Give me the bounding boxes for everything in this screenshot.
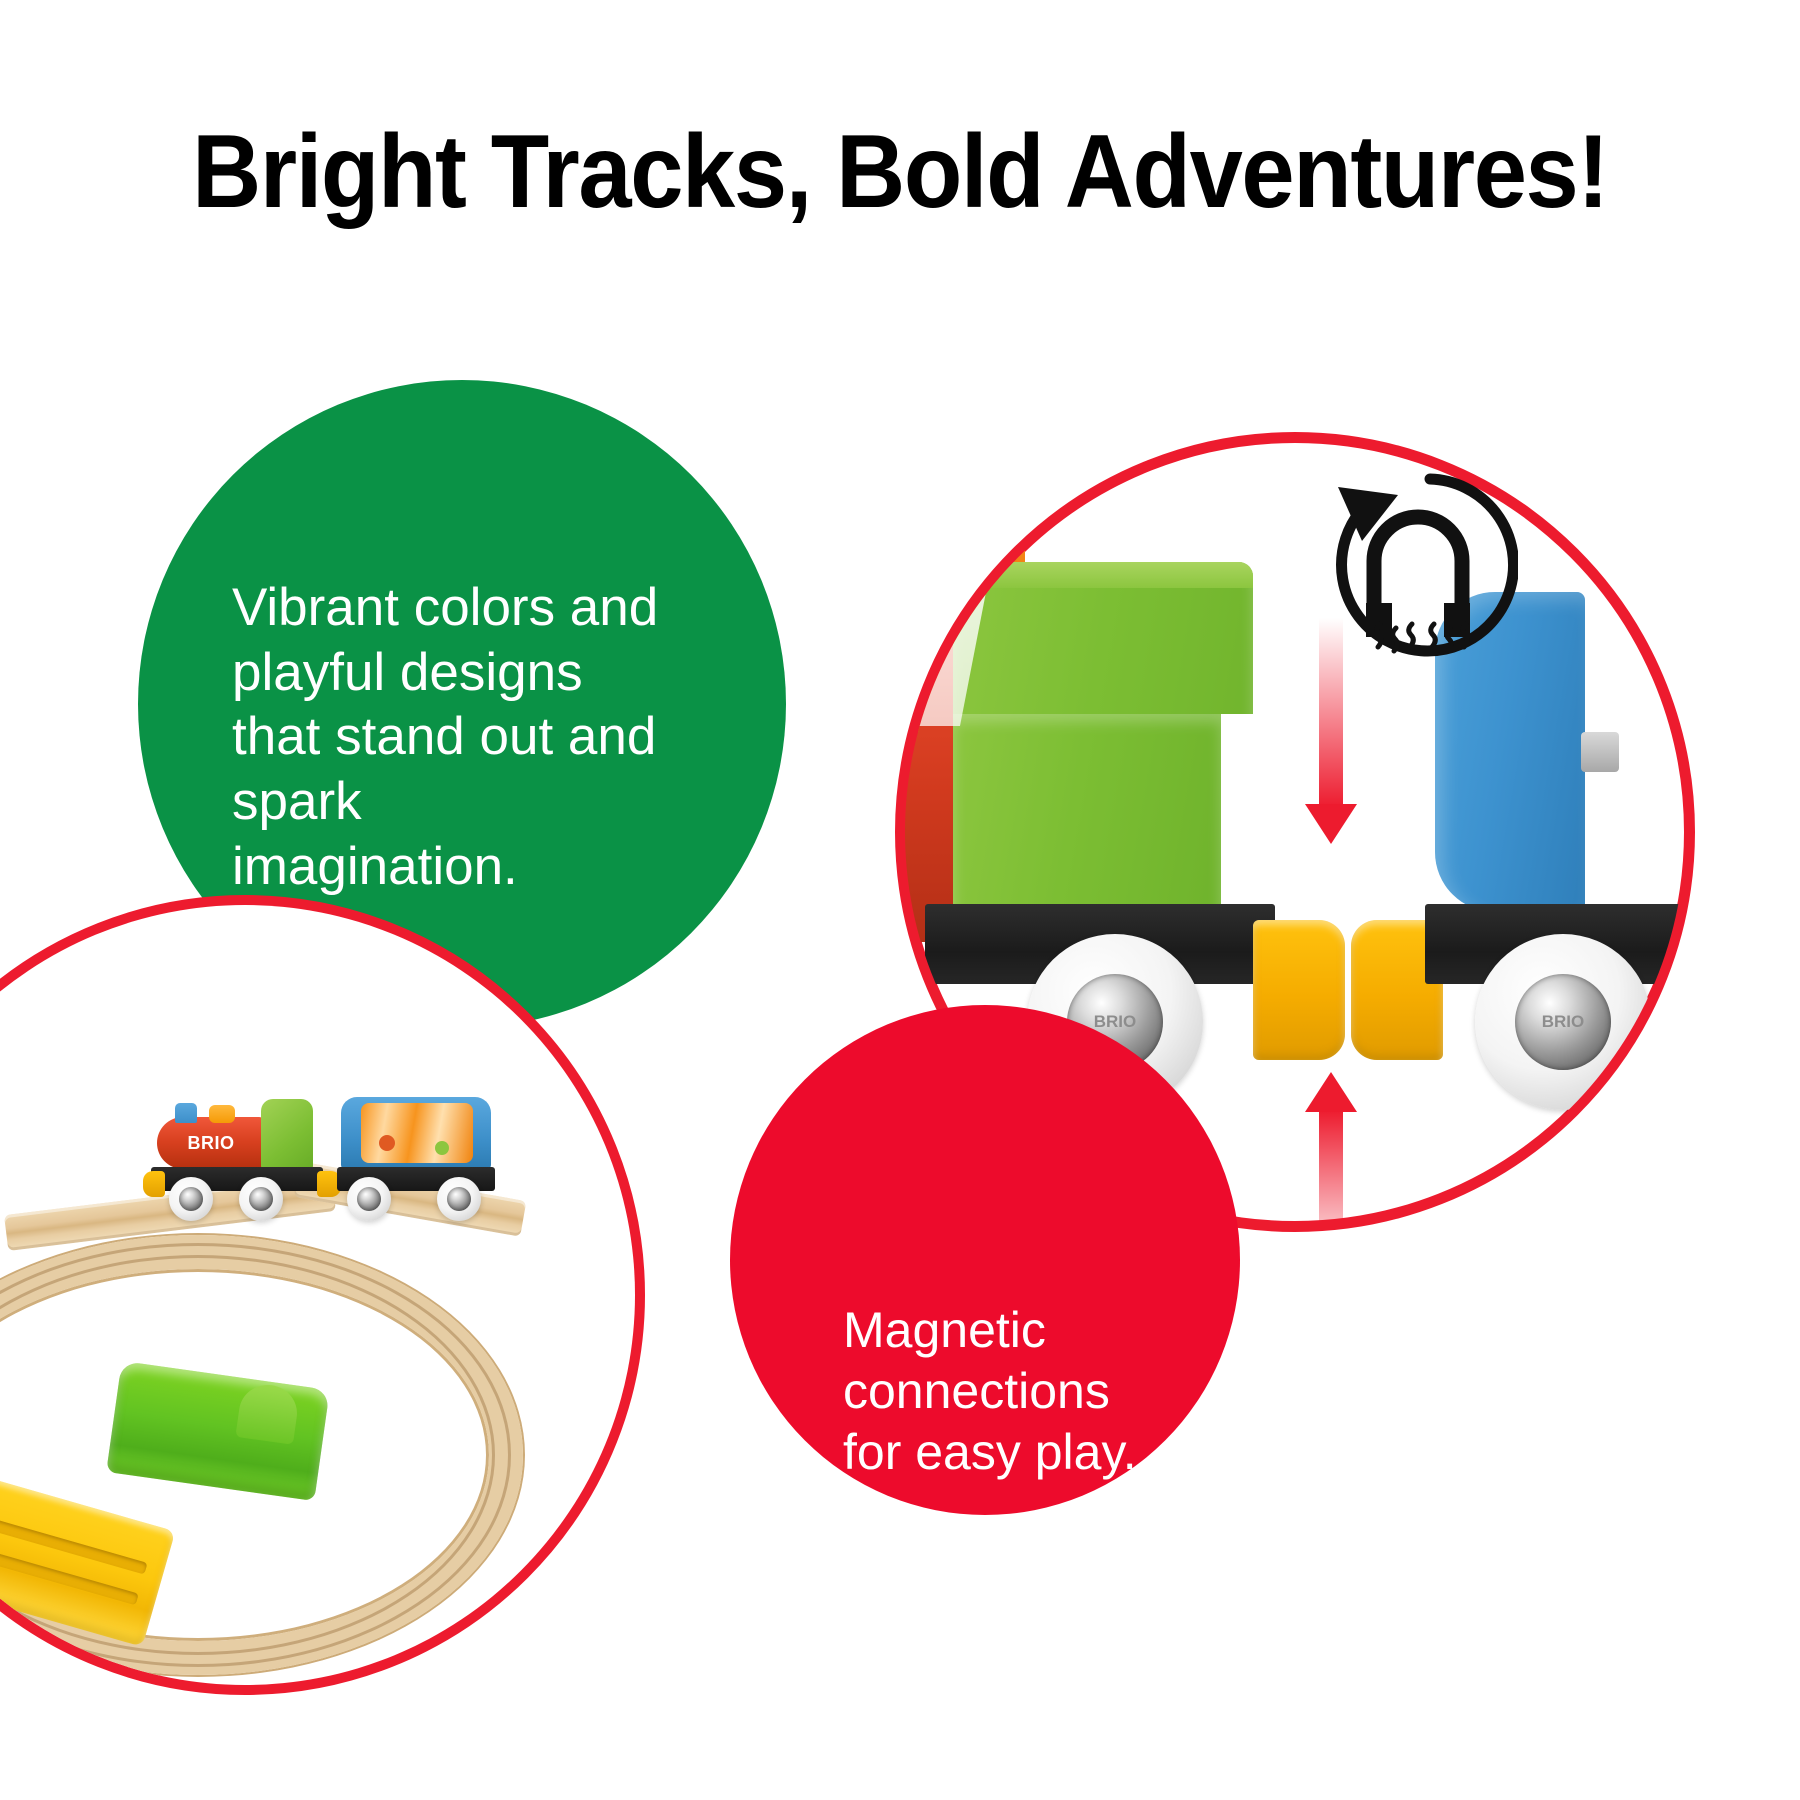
cab-top-highlight xyxy=(953,562,1253,588)
loco-wheel-hub-1 xyxy=(179,1187,203,1211)
arrow-up-shaft xyxy=(1319,1110,1343,1222)
cargo-drum-small xyxy=(361,1103,473,1163)
coupler-front xyxy=(143,1171,165,1197)
wagon-wheel-2 xyxy=(437,1177,481,1221)
locomotive-dome xyxy=(175,1103,197,1123)
cargo-ball-red xyxy=(379,1135,395,1151)
locomotive-funnel xyxy=(209,1105,235,1123)
coupler-left xyxy=(1253,920,1345,1060)
cargo-ball-green xyxy=(435,1141,449,1155)
wheel-right: BRIO xyxy=(1475,934,1651,1110)
wagon-wheel-hub-1 xyxy=(357,1187,381,1211)
locomotive-cab-small xyxy=(261,1099,313,1169)
photo-track-scene: BRIO xyxy=(0,905,635,1685)
locomotive-body: BRIO xyxy=(157,1117,265,1169)
wagon-wheel-1 xyxy=(347,1177,391,1221)
infographic-canvas: Bright Tracks, Bold Adventures! Vibrant … xyxy=(0,0,1800,1800)
loco-wheel-2 xyxy=(239,1177,283,1221)
arrow-up xyxy=(1305,1072,1357,1222)
locomotive-cab-lower xyxy=(953,714,1221,914)
connector-peg xyxy=(1581,732,1619,772)
loco-wheel-1 xyxy=(169,1177,213,1221)
brio-logo: BRIO xyxy=(188,1133,235,1154)
feature-bubble-red-text: Magnetic connections for easy play. xyxy=(843,1300,1173,1483)
wagon-wheel-hub-2 xyxy=(447,1187,471,1211)
page-title: Bright Tracks, Bold Adventures! xyxy=(72,118,1728,227)
arrow-down-head xyxy=(1305,804,1357,844)
wheel-hub-right: BRIO xyxy=(1515,974,1611,1070)
brio-train: BRIO xyxy=(151,1091,481,1221)
feature-bubble-green-text: Vibrant colors and playful designs that … xyxy=(232,576,662,899)
arrow-up-head xyxy=(1305,1072,1357,1112)
loco-wheel-hub-2 xyxy=(249,1187,273,1211)
magnet-rotate-icon xyxy=(1318,465,1518,665)
